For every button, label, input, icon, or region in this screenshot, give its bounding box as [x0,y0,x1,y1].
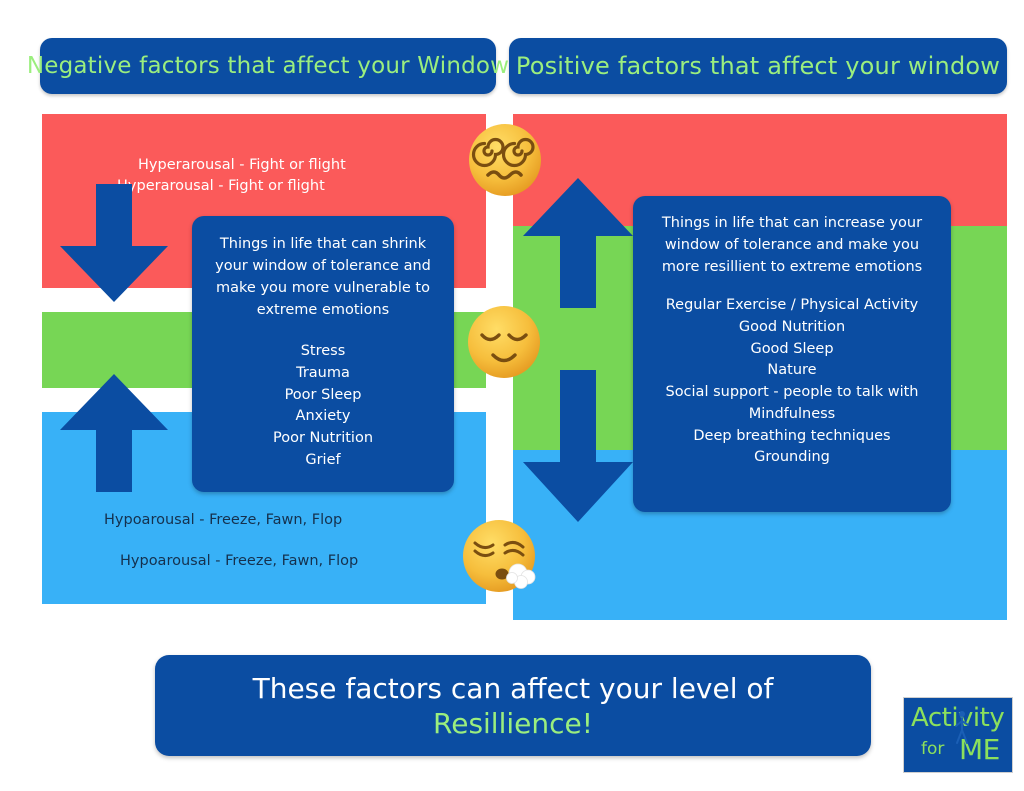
arrow-up-icon-left [60,374,168,492]
banner-line-1: These factors can affect your level of [253,671,774,706]
header-pill-negative: Negative factors that affect your Window [40,38,496,94]
info-left-intro: Things in life that can shrink your wind… [206,233,440,321]
label-hypoarousal-left: Hypoarousal - Freeze, Fawn, Flop [104,512,342,528]
positive-factor-item: Good Sleep [647,339,937,361]
positive-factor-item: Social support - people to talk with [647,382,937,404]
negative-factor-item: Stress [206,341,440,363]
dizzy-face-emoji [468,123,542,197]
negative-factor-item: Poor Nutrition [206,428,440,450]
info-box-negative-factors: Things in life that can shrink your wind… [192,216,454,492]
negative-factor-item: Anxiety [206,406,440,428]
negative-factors-list: StressTraumaPoor SleepAnxietyPoor Nutrit… [206,341,440,472]
info-right-intro: Things in life that can increase your wi… [647,212,937,278]
negative-factor-item: Grief [206,450,440,472]
infographic-page: Negative factors that affect your Window… [0,0,1024,791]
header-pill-positive: Positive factors that affect your window [509,38,1007,94]
positive-factor-item: Nature [647,360,937,382]
positive-factor-item: Deep breathing techniques [647,426,937,448]
banner-line-2: Resillience! [433,706,593,741]
positive-factor-item: Good Nutrition [647,317,937,339]
info-box-positive-factors: Things in life that can increase your wi… [633,196,951,512]
negative-factor-item: Trauma [206,363,440,385]
arrow-down-icon-right [523,370,633,522]
positive-factor-item: Grounding [647,447,937,469]
arrow-down-icon-left [60,184,168,302]
negative-factor-item: Poor Sleep [206,385,440,407]
positive-factors-list: Regular Exercise / Physical ActivityGood… [647,295,937,469]
label-hypoarousal-right: Hypoarousal - Freeze, Fawn, Flop [120,553,358,569]
activity-for-me-logo: Activity for ME [903,697,1013,773]
label-hyperarousal-right: Hyperarousal - Fight or flight [138,157,346,173]
positive-factor-item: Mindfulness [647,404,937,426]
running-figure-icon [954,710,970,744]
face-exhaling-emoji [462,519,536,593]
arrow-up-icon-right [523,178,633,308]
bottom-banner: These factors can affect your level of R… [155,655,871,756]
logo-word-for: for [921,739,944,759]
positive-factor-item: Regular Exercise / Physical Activity [647,295,937,317]
header-left-text: Negative factors that affect your Window [27,53,509,79]
header-right-text: Positive factors that affect your window [516,52,1000,80]
relieved-face-emoji [467,305,541,379]
